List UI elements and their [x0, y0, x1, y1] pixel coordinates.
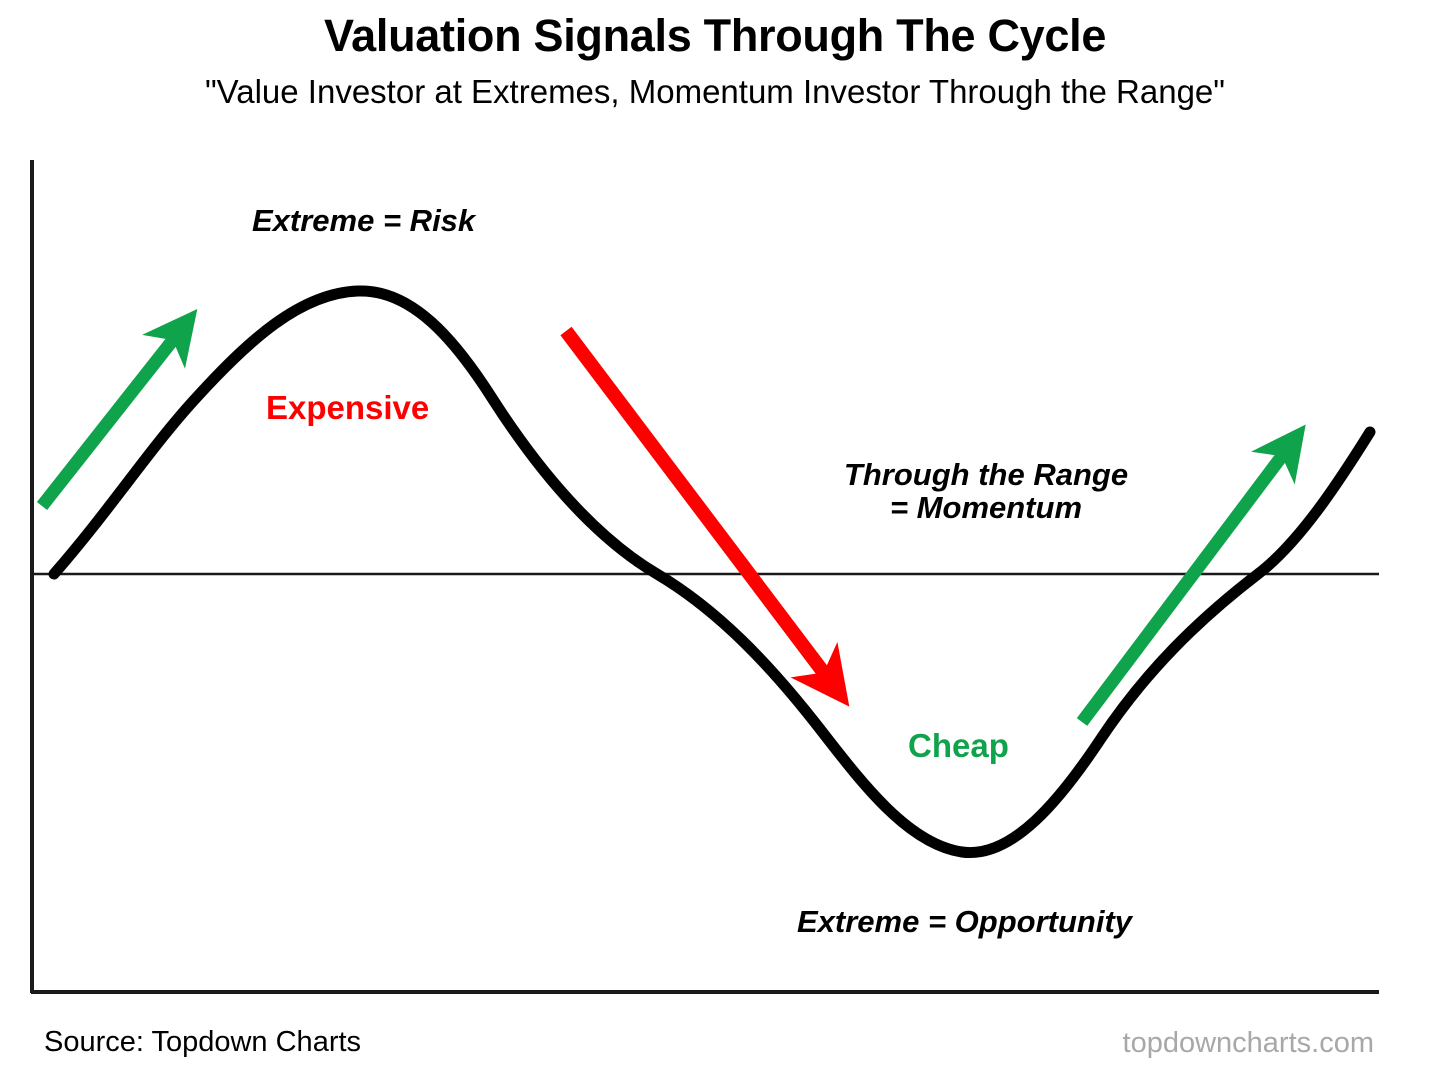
annotation-through-the-range: Through the Range = Momentum [818, 459, 1154, 525]
annotation-extreme-opportunity: Extreme = Opportunity [797, 906, 1132, 939]
red-arrow-down [566, 331, 827, 677]
annotation-expensive: Expensive [266, 391, 429, 426]
source-label: Source: Topdown Charts [44, 1026, 361, 1059]
annotation-cheap: Cheap [908, 729, 1009, 764]
green-arrow-up-left [42, 336, 176, 506]
chart-footer: Source: Topdown Charts topdowncharts.com [0, 1026, 1430, 1082]
annotation-through-the-range-line1: Through the Range [844, 457, 1128, 492]
chart-container: Valuation Signals Through The Cycle "Val… [0, 0, 1430, 1082]
chart-plot-area [0, 0, 1430, 1082]
annotation-through-the-range-line2: = Momentum [818, 492, 1154, 525]
valuation-cycle-line [54, 291, 1370, 853]
annotation-extreme-risk: Extreme = Risk [252, 205, 475, 238]
watermark-label: topdowncharts.com [1123, 1027, 1374, 1060]
